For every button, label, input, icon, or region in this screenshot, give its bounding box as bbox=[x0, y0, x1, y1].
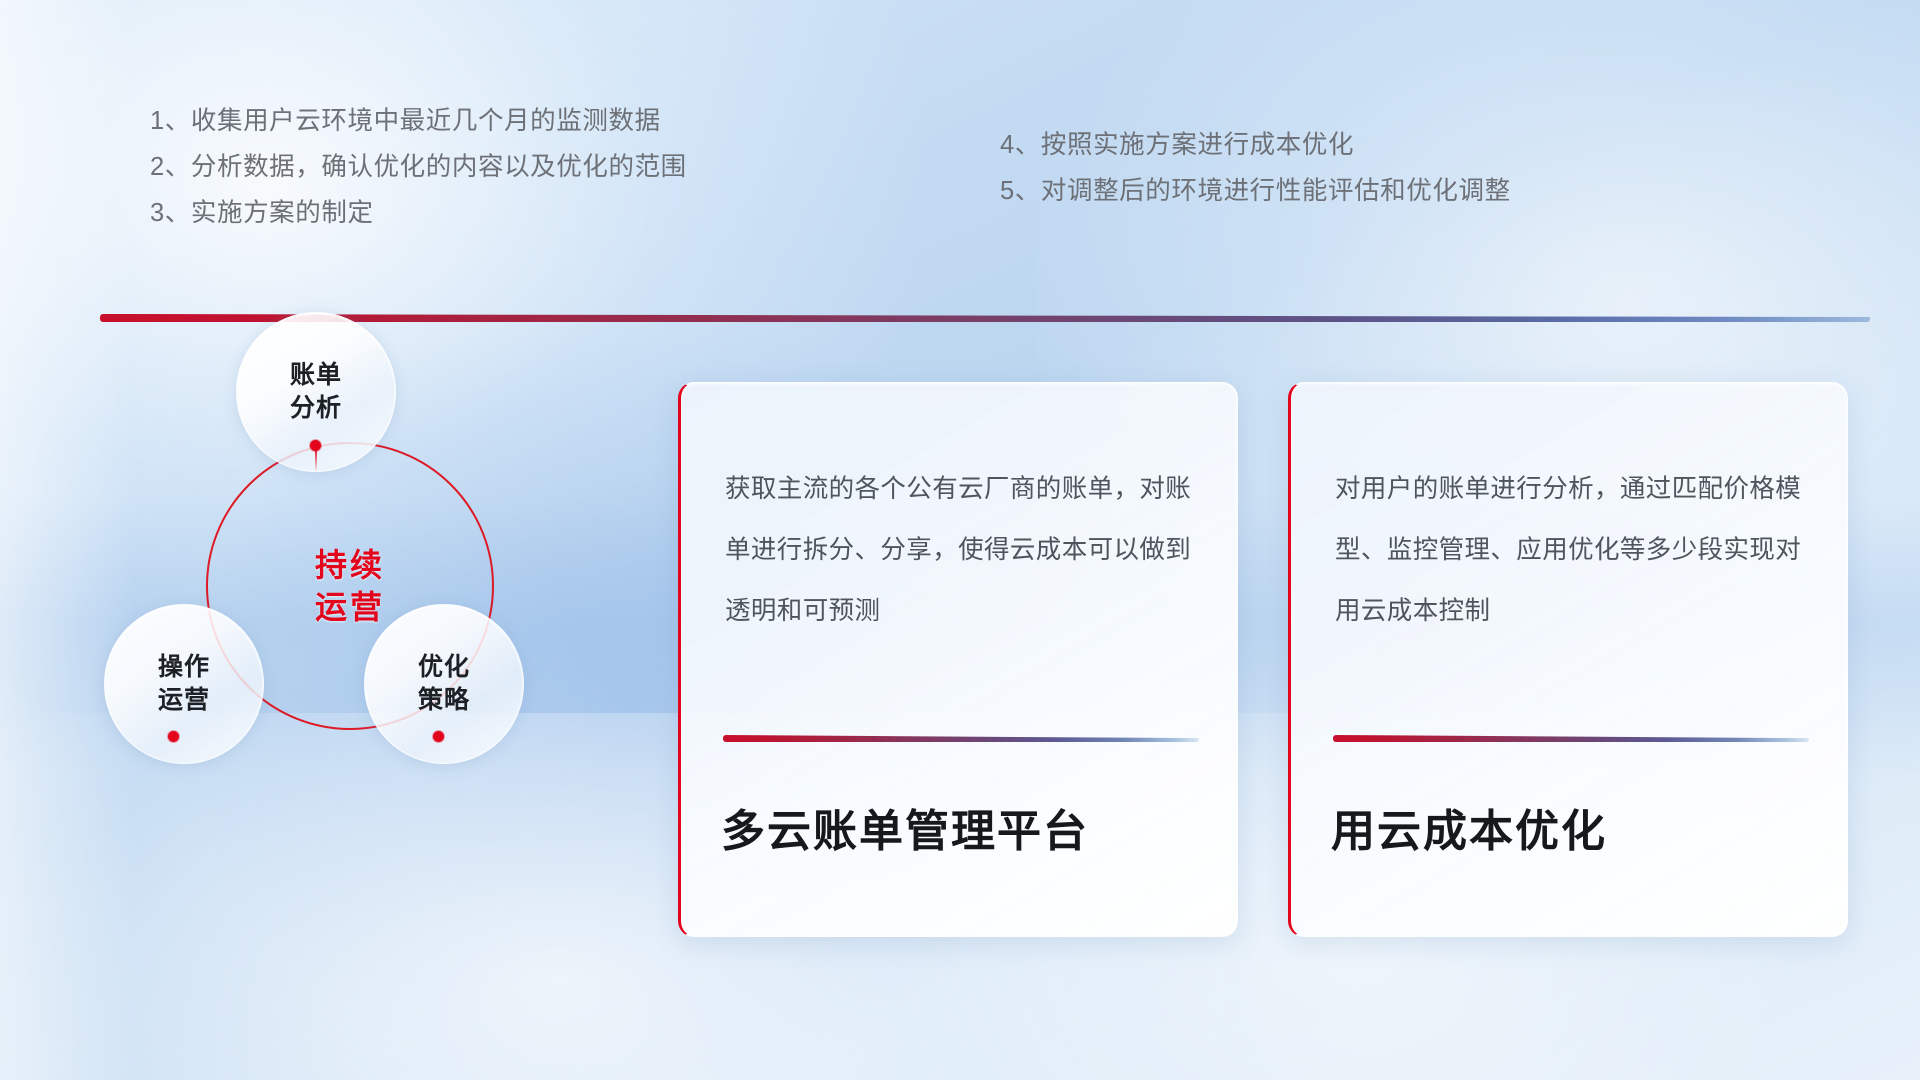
card-cloud-cost-optimization-body: 对用户的账单进行分析，通过匹配价格模型、监控管理、应用优化等多少段实现对用云成本… bbox=[1335, 459, 1811, 642]
venn-dot-bottom-left bbox=[168, 731, 179, 742]
top-divider-bar bbox=[100, 314, 1870, 322]
venn-diagram: 持续 运营 账单 分析 操作 运营 优化 策略 bbox=[96, 336, 566, 806]
venn-bubble-operations-line2: 运营 bbox=[158, 684, 210, 717]
card-cloud-cost-optimization-title: 用云成本优化 bbox=[1331, 795, 1817, 859]
venn-bubble-optimization-strategy-line2: 策略 bbox=[418, 684, 470, 717]
venn-bubble-operations-line1: 操作 bbox=[158, 651, 210, 684]
card-multicloud-billing-platform[interactable]: 获取主流的各个公有云厂商的账单，对账单进行拆分、分享，使得云成本可以做到透明和可… bbox=[678, 382, 1238, 937]
card-cloud-cost-optimization[interactable]: 对用户的账单进行分析，通过匹配价格模型、监控管理、应用优化等多少段实现对用云成本… bbox=[1288, 382, 1848, 937]
step-item-1: 1、收集用户云环境中最近几个月的监测数据 bbox=[150, 98, 687, 144]
venn-bubble-bill-analysis-line1: 账单 bbox=[290, 359, 342, 392]
step-item-5: 5、对调整后的环境进行性能评估和优化调整 bbox=[1000, 168, 1511, 214]
step-item-3: 3、实施方案的制定 bbox=[150, 190, 687, 236]
card-cloud-cost-optimization-divider bbox=[1333, 735, 1809, 742]
top-divider bbox=[100, 314, 1870, 322]
steps-left-column: 1、收集用户云环境中最近几个月的监测数据 2、分析数据，确认优化的内容以及优化的… bbox=[150, 98, 687, 236]
venn-dot-top bbox=[310, 440, 321, 451]
venn-bubble-optimization-strategy-line1: 优化 bbox=[418, 651, 470, 684]
venn-bubble-operations[interactable]: 操作 运营 bbox=[104, 604, 264, 764]
venn-bubble-bill-analysis-line2: 分析 bbox=[290, 392, 342, 425]
venn-dot-bottom-right bbox=[433, 731, 444, 742]
steps-right-column: 4、按照实施方案进行成本优化 5、对调整后的环境进行性能评估和优化调整 bbox=[1000, 122, 1511, 214]
card-multicloud-billing-platform-divider bbox=[723, 735, 1199, 742]
step-item-4: 4、按照实施方案进行成本优化 bbox=[1000, 122, 1511, 168]
card-multicloud-billing-platform-body: 获取主流的各个公有云厂商的账单，对账单进行拆分、分享，使得云成本可以做到透明和可… bbox=[725, 459, 1201, 642]
venn-bubble-optimization-strategy[interactable]: 优化 策略 bbox=[364, 604, 524, 764]
venn-connector-top bbox=[315, 448, 317, 472]
step-item-2: 2、分析数据，确认优化的内容以及优化的范围 bbox=[150, 144, 687, 190]
card-multicloud-billing-platform-title: 多云账单管理平台 bbox=[721, 795, 1207, 859]
venn-center-label-line1: 持续 bbox=[206, 544, 494, 586]
